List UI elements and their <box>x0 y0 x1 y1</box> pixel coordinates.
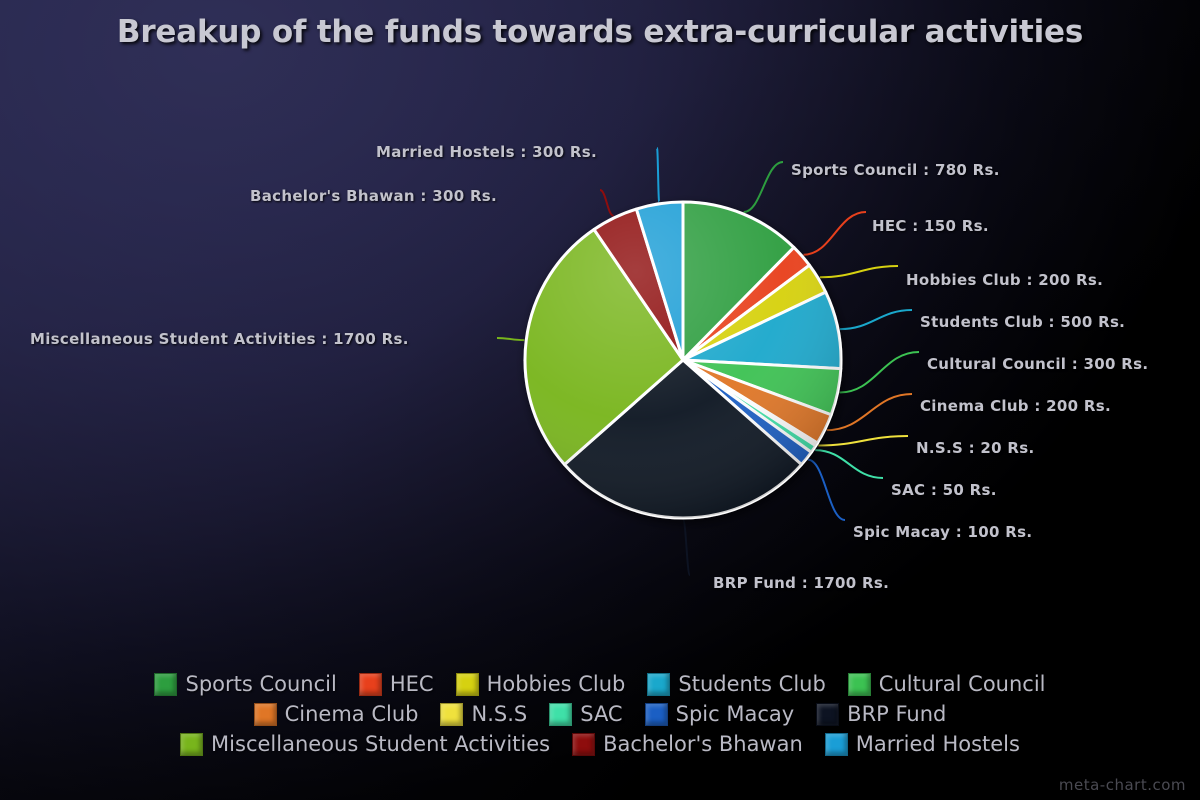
legend-label: Cinema Club <box>285 702 419 726</box>
legend-item[interactable]: Married Hostels <box>825 732 1020 756</box>
legend-item[interactable]: N.S.S <box>440 702 527 726</box>
leader-line <box>840 352 919 393</box>
legend-label: Bachelor's Bhawan <box>603 732 803 756</box>
callout-students-club: Students Club : 500 Rs. <box>920 313 1125 331</box>
callout-married-hostels: Married Hostels : 300 Rs. <box>376 143 597 161</box>
legend-label: Cultural Council <box>879 672 1046 696</box>
leader-line <box>744 162 783 212</box>
leader-line <box>808 460 845 520</box>
callout-cultural-council: Cultural Council : 300 Rs. <box>927 355 1148 373</box>
legend-item[interactable]: HEC <box>359 672 434 696</box>
legend-item[interactable]: Bachelor's Bhawan <box>572 732 803 756</box>
legend-item[interactable]: SAC <box>549 702 622 726</box>
chart-canvas: Breakup of the funds towards extra-curri… <box>0 0 1200 800</box>
legend-swatch <box>572 733 595 756</box>
callout-spic-macay: Spic Macay : 100 Rs. <box>853 523 1032 541</box>
leader-line <box>600 190 614 216</box>
legend-label: Spic Macay <box>676 702 795 726</box>
leader-line <box>815 450 883 478</box>
callout-bachelors-bhawan: Bachelor's Bhawan : 300 Rs. <box>250 187 497 205</box>
legend-label: HEC <box>390 672 434 696</box>
legend-swatch <box>440 703 463 726</box>
legend-swatch <box>645 703 668 726</box>
legend-swatch <box>647 673 670 696</box>
legend-swatch <box>254 703 277 726</box>
leader-line <box>497 338 524 340</box>
leader-line <box>840 310 912 329</box>
callout-hec: HEC : 150 Rs. <box>872 217 989 235</box>
callout-brp-fund: BRP Fund : 1700 Rs. <box>713 574 889 592</box>
leader-line <box>657 148 659 202</box>
legend-label: BRP Fund <box>847 702 946 726</box>
legend-item[interactable]: Students Club <box>647 672 825 696</box>
legend-label: Hobbies Club <box>487 672 626 696</box>
legend-label: Miscellaneous Student Activities <box>211 732 550 756</box>
legend-item[interactable]: Hobbies Club <box>456 672 626 696</box>
leader-line <box>820 266 898 277</box>
callout-hobbies-club: Hobbies Club : 200 Rs. <box>906 271 1103 289</box>
leader-line <box>804 212 867 255</box>
legend-item[interactable]: BRP Fund <box>816 702 946 726</box>
legend-label: Students Club <box>678 672 825 696</box>
legend-swatch <box>154 673 177 696</box>
legend-item[interactable]: Miscellaneous Student Activities <box>180 732 550 756</box>
legend-label: N.S.S <box>471 702 527 726</box>
leader-line <box>683 520 690 575</box>
legend-item[interactable]: Cultural Council <box>848 672 1046 696</box>
callout-sports-council: Sports Council : 780 Rs. <box>791 161 1000 179</box>
legend-label: Married Hostels <box>856 732 1020 756</box>
leader-line <box>818 436 908 446</box>
legend-label: SAC <box>580 702 622 726</box>
callout-sac: SAC : 50 Rs. <box>891 481 997 499</box>
callout-misc-student-activities: Miscellaneous Student Activities : 1700 … <box>30 330 409 348</box>
legend-item[interactable]: Cinema Club <box>254 702 419 726</box>
legend-row: Cinema ClubN.S.SSACSpic MacayBRP Fund <box>254 702 947 726</box>
legend-item[interactable]: Spic Macay <box>645 702 795 726</box>
pie-slices-group <box>525 202 841 518</box>
legend-swatch <box>848 673 871 696</box>
callout-cinema-club: Cinema Club : 200 Rs. <box>920 397 1111 415</box>
legend-swatch <box>825 733 848 756</box>
watermark: meta-chart.com <box>1059 776 1186 794</box>
legend-swatch <box>359 673 382 696</box>
chart-legend: Sports CouncilHECHobbies ClubStudents Cl… <box>0 672 1200 756</box>
legend-row: Sports CouncilHECHobbies ClubStudents Cl… <box>154 672 1045 696</box>
legend-label: Sports Council <box>185 672 336 696</box>
legend-item[interactable]: Sports Council <box>154 672 336 696</box>
legend-swatch <box>456 673 479 696</box>
legend-swatch <box>816 703 839 726</box>
legend-row: Miscellaneous Student ActivitiesBachelor… <box>180 732 1020 756</box>
legend-swatch <box>180 733 203 756</box>
legend-swatch <box>549 703 572 726</box>
leader-line <box>827 394 912 430</box>
callout-nss: N.S.S : 20 Rs. <box>916 439 1034 457</box>
